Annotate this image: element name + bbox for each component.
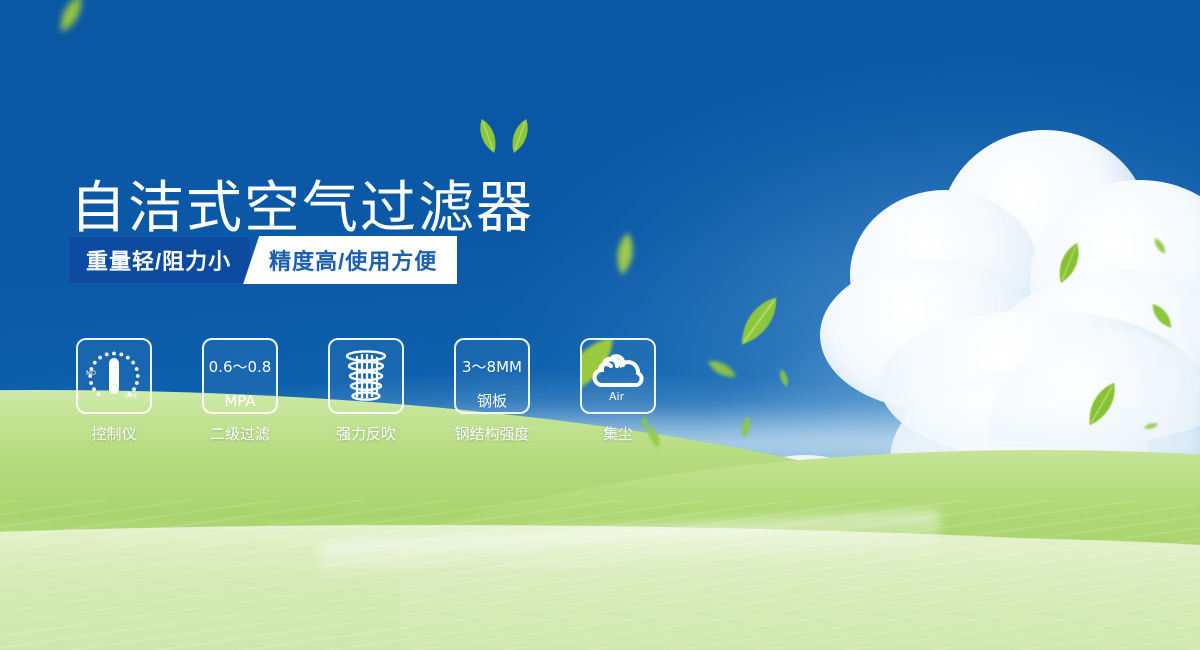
feature-item-backblow[interactable]: 强力反吹	[328, 338, 404, 444]
steel-icon-text: 3～8MM 钢板	[462, 342, 522, 411]
pressure-value: 0.6～0.8	[209, 358, 272, 376]
steel-icon: 3～8MM 钢板	[454, 338, 530, 414]
feature-list: NO OFF 控制仪 0.6～0.8 MPA 二级过滤	[76, 338, 656, 444]
feature-label: 强力反吹	[336, 423, 396, 444]
subtitle-badge-primary: 重量轻/阻力小	[68, 236, 251, 284]
pressure-unit: MPA	[224, 392, 255, 410]
air-label: Air	[609, 390, 625, 403]
steel-thickness: 3～8MM	[462, 358, 522, 376]
subtitle-bar: 重量轻/阻力小 精度高/使用方便	[68, 236, 457, 284]
steel-material: 钢板	[477, 392, 507, 410]
hero-banner: 自洁式空气过滤器 重量轻/阻力小 精度高/使用方便	[0, 0, 1200, 650]
pressure-icon: 0.6～0.8 MPA	[202, 338, 278, 414]
feature-label: 二级过滤	[210, 423, 270, 444]
svg-text:NO: NO	[86, 369, 96, 377]
feature-item-dust[interactable]: Air 集尘	[580, 338, 656, 444]
feature-label: 集尘	[603, 423, 633, 444]
feature-label: 钢结构强度	[454, 423, 529, 444]
feature-item-steel[interactable]: 3～8MM 钢板 钢结构强度	[454, 338, 530, 444]
air-cloud-icon: Air	[580, 338, 656, 414]
subtitle-badge-secondary: 精度高/使用方便	[243, 236, 457, 284]
title-sprout-leaf-right-icon	[502, 111, 538, 162]
feature-item-controller[interactable]: NO OFF 控制仪	[76, 338, 152, 444]
gauge-icon: NO OFF	[76, 338, 152, 414]
feature-label: 控制仪	[91, 423, 136, 444]
feature-item-filtration[interactable]: 0.6～0.8 MPA 二级过滤	[202, 338, 278, 444]
svg-text:OFF: OFF	[125, 392, 138, 400]
hero-content: 自洁式空气过滤器 重量轻/阻力小 精度高/使用方便	[0, 0, 1200, 650]
page-title: 自洁式空气过滤器	[70, 181, 534, 237]
pressure-icon-text: 0.6～0.8 MPA	[209, 342, 272, 411]
coil-icon	[328, 338, 404, 414]
